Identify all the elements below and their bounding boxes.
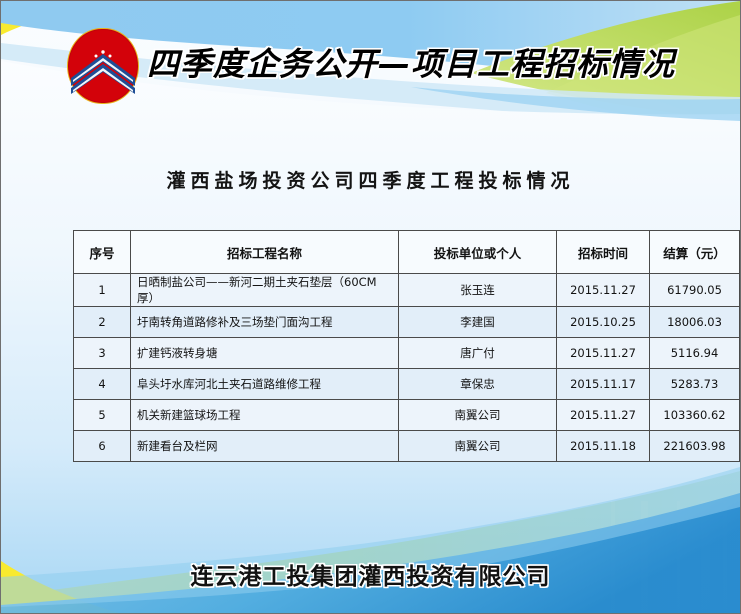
cell-bidder: 张玉连 xyxy=(399,274,557,307)
cell-bidder: 章保忠 xyxy=(399,369,557,400)
blue-wave-bottom xyxy=(1,493,740,613)
bid-table: 序号 招标工程名称 投标单位或个人 招标时间 结算（元） 1 日晒制盐公司——新… xyxy=(73,230,740,462)
table-header-row: 序号 招标工程名称 投标单位或个人 招标时间 结算（元） xyxy=(74,231,740,274)
table-body: 1 日晒制盐公司——新河二期土夹石垫层（60CM厚） 张玉连 2015.11.2… xyxy=(74,274,740,462)
bid-table-container: 序号 招标工程名称 投标单位或个人 招标时间 结算（元） 1 日晒制盐公司——新… xyxy=(73,230,674,462)
table-row: 3 扩建钙液转身塘 唐广付 2015.11.27 5116.94 xyxy=(74,338,740,369)
table-row: 2 圩南转角道路修补及三场垫门面沟工程 李建国 2015.10.25 18006… xyxy=(74,307,740,338)
table-row: 6 新建看台及栏网 南翼公司 2015.11.18 221603.98 xyxy=(74,431,740,462)
cell-amount: 221603.98 xyxy=(650,431,740,462)
table-row: 5 机关新建篮球场工程 南翼公司 2015.11.27 103360.62 xyxy=(74,400,740,431)
cell-project: 新建看台及栏网 xyxy=(131,431,399,462)
cell-date: 2015.11.27 xyxy=(557,400,650,431)
column-header-date: 招标时间 xyxy=(557,231,650,274)
header-banner: 四季度企务公开—项目工程招标情况 xyxy=(1,1,740,121)
column-header-bidder: 投标单位或个人 xyxy=(399,231,557,274)
cell-project: 机关新建篮球场工程 xyxy=(131,400,399,431)
footer-company-name: 连云港工投集团灌西投资有限公司 xyxy=(1,557,740,591)
cell-date: 2015.11.18 xyxy=(557,431,650,462)
cell-amount: 5283.73 xyxy=(650,369,740,400)
cell-no: 3 xyxy=(74,338,131,369)
cell-no: 6 xyxy=(74,431,131,462)
olive-wave-bottom xyxy=(1,471,740,613)
cell-amount: 18006.03 xyxy=(650,307,740,338)
banner-title: 四季度企务公开—项目工程招标情况 xyxy=(147,39,675,85)
column-header-project: 招标工程名称 xyxy=(131,231,399,274)
cell-bidder: 南翼公司 xyxy=(399,431,557,462)
table-row: 4 阜头圩水库河北土夹石道路维修工程 章保忠 2015.11.17 5283.7… xyxy=(74,369,740,400)
company-emblem-icon xyxy=(67,28,139,104)
table-header: 序号 招标工程名称 投标单位或个人 招标时间 结算（元） xyxy=(74,231,740,274)
cell-amount: 5116.94 xyxy=(650,338,740,369)
cell-bidder: 李建国 xyxy=(399,307,557,338)
cell-date: 2015.11.27 xyxy=(557,338,650,369)
slide-canvas: 四季度企务公开—项目工程招标情况 灌西盐场投资公司四季度工程投标情况 序号 招标… xyxy=(0,0,741,614)
cell-no: 2 xyxy=(74,307,131,338)
cell-amount: 103360.62 xyxy=(650,400,740,431)
column-header-amount: 结算（元） xyxy=(650,231,740,274)
cell-project: 阜头圩水库河北土夹石道路维修工程 xyxy=(131,369,399,400)
cell-no: 5 xyxy=(74,400,131,431)
cell-project: 扩建钙液转身塘 xyxy=(131,338,399,369)
cell-no: 4 xyxy=(74,369,131,400)
cell-date: 2015.11.27 xyxy=(557,274,650,307)
cell-project: 日晒制盐公司——新河二期土夹石垫层（60CM厚） xyxy=(131,274,399,307)
column-header-no: 序号 xyxy=(74,231,131,274)
cell-no: 1 xyxy=(74,274,131,307)
cell-date: 2015.10.25 xyxy=(557,307,650,338)
cell-bidder: 唐广付 xyxy=(399,338,557,369)
cell-amount: 61790.05 xyxy=(650,274,740,307)
cell-bidder: 南翼公司 xyxy=(399,400,557,431)
table-row: 1 日晒制盐公司——新河二期土夹石垫层（60CM厚） 张玉连 2015.11.2… xyxy=(74,274,740,307)
cell-date: 2015.11.17 xyxy=(557,369,650,400)
page-title: 灌西盐场投资公司四季度工程投标情况 xyxy=(1,166,740,193)
cell-project: 圩南转角道路修补及三场垫门面沟工程 xyxy=(131,307,399,338)
emblem-chevron-icon xyxy=(67,28,139,104)
